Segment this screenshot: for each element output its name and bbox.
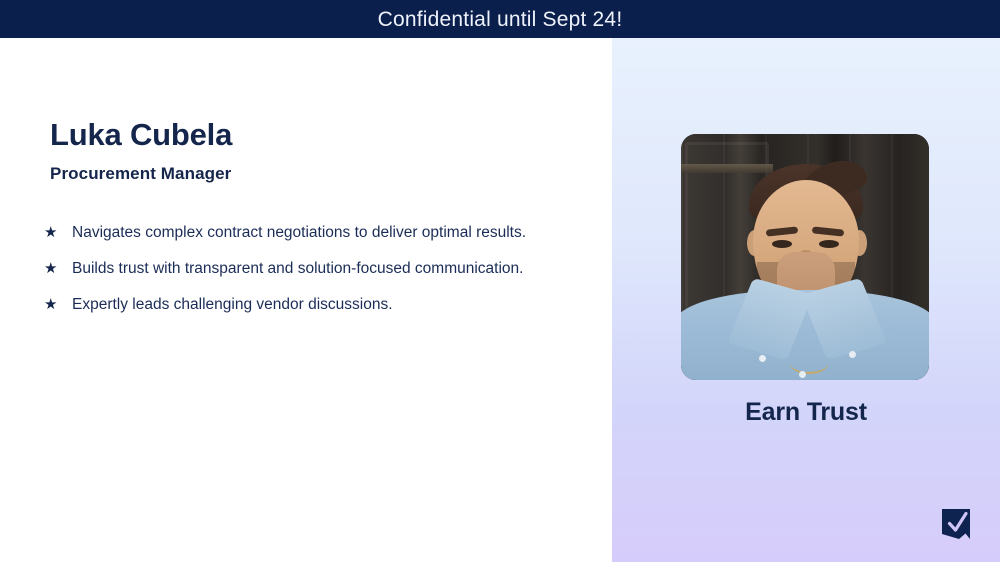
person-name: Luka Cubela: [50, 118, 232, 152]
star-icon: ★: [42, 295, 72, 315]
list-item-text: Navigates complex contract negotiations …: [72, 223, 562, 243]
checkmark-bookmark-logo-icon: [937, 505, 975, 543]
list-item-text: Expertly leads challenging vendor discus…: [72, 295, 562, 315]
confidential-banner-text: Confidential until Sept 24!: [378, 9, 623, 30]
profile-photo: [681, 134, 929, 380]
profile-panel: Luka Cubela Procurement Manager ★ Naviga…: [0, 38, 612, 562]
visual-panel: Earn Trust: [612, 38, 1000, 562]
list-item-text: Builds trust with transparent and soluti…: [72, 259, 562, 279]
value-caption: Earn Trust: [612, 398, 1000, 427]
list-item: ★ Navigates complex contract negotiation…: [42, 223, 562, 243]
confidential-banner: Confidential until Sept 24!: [0, 0, 1000, 38]
person-role: Procurement Manager: [50, 164, 231, 184]
star-icon: ★: [42, 259, 72, 279]
slide-canvas: Confidential until Sept 24! Luka Cubela …: [0, 0, 1000, 562]
highlights-list: ★ Navigates complex contract negotiation…: [42, 223, 562, 331]
list-item: ★ Expertly leads challenging vendor disc…: [42, 295, 562, 315]
list-item: ★ Builds trust with transparent and solu…: [42, 259, 562, 279]
star-icon: ★: [42, 223, 72, 243]
